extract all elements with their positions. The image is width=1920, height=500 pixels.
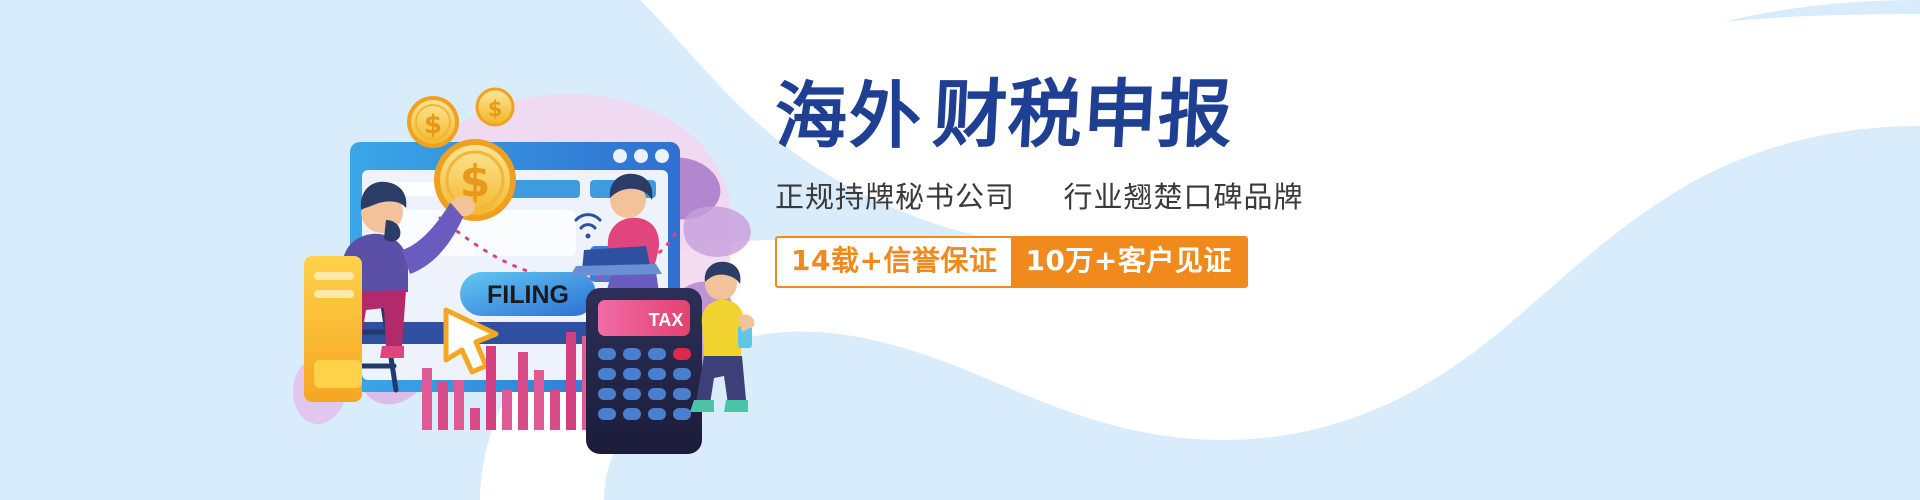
filing-button-label: FILING: [487, 281, 569, 309]
banner-copy: 海外 财税申报 正规持牌秘书公司 行业翘楚口碑品牌 14载+信誉保证 10万+客…: [775, 78, 1475, 288]
calculator-display-label: TAX: [649, 310, 684, 330]
folder: [304, 256, 362, 402]
headline-part-2: 财税申报: [931, 78, 1235, 152]
illustration-svg: $ $ $: [290, 60, 760, 460]
coin-tiny: $: [477, 89, 513, 125]
promo-banner: $ $ $: [0, 0, 1920, 500]
calculator: TAX: [586, 288, 702, 454]
svg-text:$: $: [488, 97, 503, 121]
badge-credit-guarantee: 14载+信誉保证: [777, 238, 1011, 286]
subtitle-right: 行业翘楚口碑品牌: [1063, 180, 1303, 214]
badge-group: 14载+信誉保证 10万+客户见证: [775, 236, 1248, 288]
subtitle: 正规持牌秘书公司 行业翘楚口碑品牌: [775, 174, 1475, 216]
coin-small: $: [409, 98, 457, 146]
subtitle-left: 正规持牌秘书公司: [775, 180, 1015, 214]
headline: 海外 财税申报: [775, 78, 1475, 152]
headline-part-1: 海外: [775, 80, 923, 152]
filing-button[interactable]: FILING: [460, 272, 596, 316]
tax-filing-illustration: $ $ $: [290, 60, 760, 460]
coin-symbol: $: [424, 110, 442, 140]
badge-customer-count: 10万+客户见证: [1011, 238, 1245, 286]
